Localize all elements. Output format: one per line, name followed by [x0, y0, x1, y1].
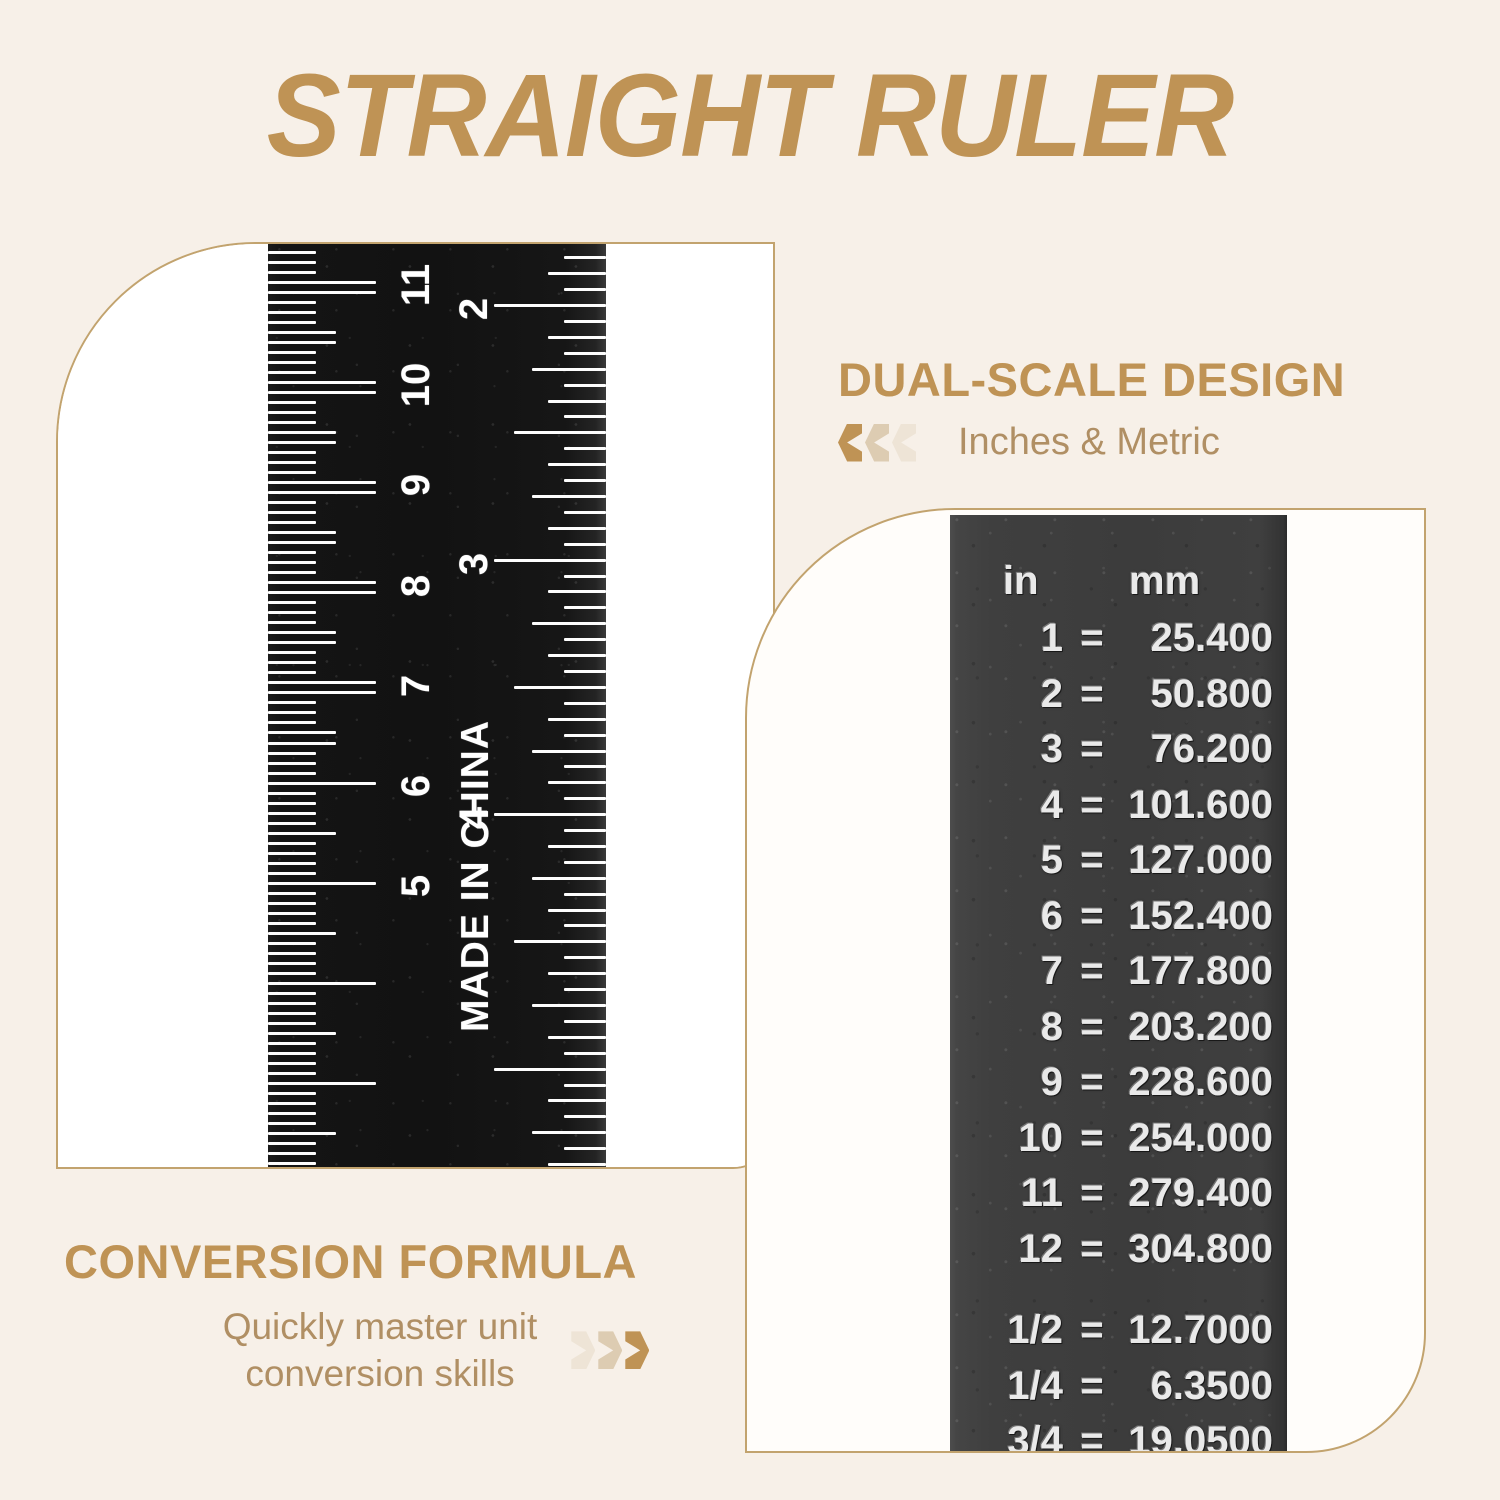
table-row: 10=254.000 — [950, 1116, 1287, 1172]
table-row: 1/4=6.3500 — [950, 1364, 1287, 1420]
metric-tick — [268, 691, 376, 694]
imperial-scale-number: 2 — [454, 279, 494, 339]
metric-scale-number: 11 — [396, 255, 436, 315]
metric-tick — [268, 752, 316, 755]
imperial-tick — [564, 447, 606, 450]
made-in-china-label: MADE IN CHINA — [454, 720, 498, 1032]
cell-inches: 9 — [950, 1060, 1063, 1105]
imperial-tick — [548, 845, 606, 848]
metric-tick — [268, 1152, 316, 1155]
equals-sign: = — [1063, 1227, 1121, 1272]
equals-sign: = — [1063, 838, 1121, 883]
imperial-tick — [564, 479, 606, 482]
table-row: 1=25.400 — [950, 616, 1287, 672]
table-section-divider — [950, 1282, 1287, 1308]
metric-tick — [268, 611, 316, 614]
imperial-tick — [564, 1084, 606, 1087]
imperial-tick — [564, 988, 606, 991]
metric-tick — [268, 962, 316, 965]
metric-tick — [268, 321, 316, 324]
cell-millimeters: 228.600 — [1121, 1060, 1281, 1105]
metric-tick — [268, 882, 376, 885]
metric-tick — [268, 361, 316, 364]
metric-tick — [268, 1082, 376, 1085]
table-row: 1/2=12.7000 — [950, 1308, 1287, 1364]
imperial-tick — [564, 1052, 606, 1055]
metric-tick — [268, 1032, 336, 1035]
metric-tick — [268, 822, 316, 825]
metric-tick — [268, 1042, 316, 1045]
equals-sign: = — [1063, 1364, 1121, 1409]
metric-tick — [268, 421, 316, 424]
metric-tick — [268, 992, 316, 995]
metric-tick — [268, 471, 316, 474]
cell-millimeters: 203.200 — [1121, 1005, 1281, 1050]
cell-millimeters: 6.3500 — [1121, 1364, 1281, 1409]
imperial-tick — [564, 575, 606, 578]
imperial-tick — [564, 352, 606, 355]
metric-tick — [268, 742, 336, 745]
metric-tick — [268, 351, 316, 354]
imperial-tick — [532, 622, 606, 625]
table-row: 3=76.200 — [950, 727, 1287, 783]
imperial-tick — [548, 272, 606, 275]
metric-tick — [268, 802, 316, 805]
cell-inches: 4 — [950, 783, 1063, 828]
metric-tick — [268, 271, 316, 274]
cell-inches: 8 — [950, 1005, 1063, 1050]
cell-millimeters: 25.400 — [1121, 616, 1281, 661]
metric-tick — [268, 591, 376, 594]
metric-tick — [268, 581, 376, 584]
imperial-tick — [548, 909, 606, 912]
metric-tick — [268, 401, 316, 404]
metric-tick — [268, 491, 376, 494]
cell-millimeters: 279.400 — [1121, 1171, 1281, 1216]
metric-tick — [268, 862, 316, 865]
table-row: 5=127.000 — [950, 838, 1287, 894]
imperial-tick — [532, 242, 606, 244]
metric-tick — [268, 922, 316, 925]
metric-tick — [268, 1012, 316, 1015]
cell-inches: 3/4 — [950, 1419, 1063, 1453]
imperial-tick — [514, 686, 606, 689]
cell-millimeters: 127.000 — [1121, 838, 1281, 883]
imperial-tick — [564, 288, 606, 291]
conversion-subtitle-line-2: conversion skills — [223, 1350, 538, 1397]
metric-tick — [268, 681, 376, 684]
imperial-tick — [494, 559, 606, 562]
imperial-tick — [564, 256, 606, 259]
table-row: 2=50.800 — [950, 672, 1287, 728]
imperial-tick — [494, 304, 606, 307]
imperial-tick — [564, 606, 606, 609]
imperial-tick — [564, 924, 606, 927]
cell-millimeters: 304.800 — [1121, 1227, 1281, 1272]
metric-tick — [268, 511, 316, 514]
table-row: 12=304.800 — [950, 1227, 1287, 1283]
metric-tick — [268, 341, 336, 344]
chevron-left-icon — [892, 424, 916, 462]
metric-scale-number: 10 — [396, 355, 436, 415]
conversion-subtitle-line-1: Quickly master unit — [223, 1303, 538, 1350]
metric-tick — [268, 561, 316, 564]
imperial-tick — [564, 829, 606, 832]
imperial-tick — [532, 1131, 606, 1134]
metric-tick — [268, 1022, 316, 1025]
metric-tick — [268, 772, 316, 775]
whole-inch-rows: 1=25.4002=50.8003=76.2004=101.6005=127.0… — [950, 616, 1287, 1282]
cell-millimeters: 177.800 — [1121, 949, 1281, 994]
metric-tick — [268, 942, 316, 945]
equals-sign: = — [1063, 783, 1121, 828]
table-header-row: in mm — [950, 559, 1287, 616]
equals-sign: = — [1063, 1005, 1121, 1050]
metric-tick — [268, 481, 376, 484]
metric-tick — [268, 892, 316, 895]
table-row: 9=228.600 — [950, 1060, 1287, 1116]
metric-tick — [268, 411, 316, 414]
equals-sign: = — [1063, 616, 1121, 661]
imperial-tick — [532, 1004, 606, 1007]
metric-tick — [268, 782, 376, 785]
imperial-tick — [564, 734, 606, 737]
metric-tick — [268, 1072, 316, 1075]
metric-tick — [268, 671, 316, 674]
metric-tick — [268, 902, 316, 905]
conversion-text-block: CONVERSION FORMULA Quickly master unit c… — [56, 1234, 756, 1398]
metric-scale-number: 9 — [396, 455, 436, 515]
metric-tick — [268, 331, 336, 334]
imperial-tick — [548, 654, 606, 657]
metric-tick — [268, 952, 316, 955]
cell-inches: 1 — [950, 616, 1063, 661]
imperial-tick — [548, 972, 606, 975]
metric-tick — [268, 1052, 316, 1055]
imperial-tick — [564, 638, 606, 641]
imperial-tick — [494, 813, 606, 816]
metric-tick — [268, 832, 336, 835]
imperial-tick — [564, 384, 606, 387]
inch-to-mm-conversion-plate: in mm 1=25.4002=50.8003=76.2004=101.6005… — [950, 515, 1287, 1453]
equals-sign: = — [1063, 949, 1121, 994]
metric-tick — [268, 912, 316, 915]
imperial-tick — [514, 940, 606, 943]
chevron-right-icon — [571, 1331, 595, 1369]
imperial-tick — [548, 336, 606, 339]
metric-tick — [268, 621, 316, 624]
metric-tick — [268, 551, 316, 554]
table-row: 8=203.200 — [950, 1005, 1287, 1061]
metric-tick — [268, 571, 316, 574]
chevron-right-icon-group — [571, 1331, 649, 1369]
dual-scale-text-block: DUAL-SCALE DESIGN Inches & Metric — [838, 352, 1438, 464]
imperial-tick — [564, 1020, 606, 1023]
imperial-tick — [494, 1068, 606, 1071]
imperial-tick — [548, 590, 606, 593]
imperial-tick — [564, 956, 606, 959]
cell-inches: 5 — [950, 838, 1063, 883]
metric-tick — [268, 1062, 316, 1065]
table-row: 7=177.800 — [950, 949, 1287, 1005]
imperial-tick — [548, 1036, 606, 1039]
metric-tick — [268, 391, 376, 394]
metric-tick — [268, 661, 316, 664]
imperial-tick — [548, 781, 606, 784]
equals-sign: = — [1063, 1116, 1121, 1161]
metric-tick — [268, 842, 316, 845]
metric-tick — [268, 1112, 316, 1115]
header-millimeters: mm — [1121, 559, 1281, 604]
metric-tick — [268, 311, 316, 314]
cell-millimeters: 152.400 — [1121, 894, 1281, 939]
cell-millimeters: 254.000 — [1121, 1116, 1281, 1161]
cell-inches: 11 — [950, 1171, 1063, 1216]
cell-inches: 1/4 — [950, 1364, 1063, 1409]
imperial-tick — [548, 527, 606, 530]
cell-inches: 1/2 — [950, 1308, 1063, 1353]
metric-tick — [268, 301, 316, 304]
cell-millimeters: 12.7000 — [1121, 1308, 1281, 1353]
imperial-tick — [548, 718, 606, 721]
metric-tick — [268, 812, 316, 815]
table-row: 3/4=19.0500 — [950, 1419, 1287, 1453]
table-row: 6=152.400 — [950, 894, 1287, 950]
cell-millimeters: 101.600 — [1121, 783, 1281, 828]
ruler-photo-background: MADE IN CHINA MQ-1015B 111098765234 — [58, 244, 773, 1167]
imperial-tick — [548, 1163, 606, 1166]
imperial-tick — [548, 1099, 606, 1102]
equals-sign: = — [1063, 1419, 1121, 1453]
cell-inches: 2 — [950, 672, 1063, 717]
metric-tick — [268, 711, 316, 714]
conversion-heading: CONVERSION FORMULA — [56, 1234, 756, 1289]
metric-scale-number: 5 — [396, 856, 436, 916]
table-row: 4=101.600 — [950, 783, 1287, 839]
metric-tick — [268, 281, 376, 284]
metric-tick — [268, 242, 336, 244]
imperial-tick — [532, 877, 606, 880]
metric-tick — [268, 872, 316, 875]
imperial-tick-scale — [486, 242, 606, 1169]
imperial-scale-number: 4 — [454, 788, 494, 848]
equals-sign: = — [1063, 1171, 1121, 1216]
cell-millimeters: 19.0500 — [1121, 1419, 1281, 1453]
metric-tick — [268, 701, 316, 704]
metric-tick — [268, 972, 316, 975]
metric-tick — [268, 932, 336, 935]
metric-tick — [268, 541, 336, 544]
metric-tick — [268, 501, 316, 504]
dual-scale-subtitle-row: Inches & Metric — [838, 421, 1438, 464]
metric-tick — [268, 381, 376, 384]
imperial-tick — [564, 797, 606, 800]
chevron-left-icon — [838, 424, 862, 462]
metric-tick — [268, 1142, 316, 1145]
chevron-right-icon — [598, 1331, 622, 1369]
metric-tick — [268, 631, 336, 634]
imperial-tick — [548, 400, 606, 403]
metric-tick — [268, 1092, 316, 1095]
imperial-tick — [564, 765, 606, 768]
metric-tick — [268, 762, 316, 765]
metric-tick — [268, 371, 316, 374]
metric-tick — [268, 521, 316, 524]
metric-tick — [268, 601, 316, 604]
cell-inches: 12 — [950, 1227, 1063, 1272]
imperial-tick — [564, 1147, 606, 1150]
metric-tick — [268, 431, 336, 434]
metric-scale-number: 7 — [396, 656, 436, 716]
imperial-tick — [564, 861, 606, 864]
cell-inches: 7 — [950, 949, 1063, 994]
cell-inches: 3 — [950, 727, 1063, 772]
equals-sign: = — [1063, 1308, 1121, 1353]
metric-tick — [268, 451, 316, 454]
metric-tick — [268, 441, 336, 444]
ruler-photo-panel: MADE IN CHINA MQ-1015B 111098765234 — [56, 242, 775, 1169]
dual-scale-subtitle: Inches & Metric — [958, 421, 1220, 464]
fractional-inch-rows: 1/2=12.70001/4=6.35003/4=19.05001/8=3.17… — [950, 1308, 1287, 1453]
metric-tick — [268, 1132, 336, 1135]
equals-sign: = — [1063, 727, 1121, 772]
equals-sign: = — [1063, 1060, 1121, 1105]
chevron-left-icon-group — [838, 424, 916, 462]
imperial-tick — [532, 750, 606, 753]
metric-tick — [268, 251, 316, 254]
header-inches: in — [950, 559, 1063, 604]
metric-tick-scale — [268, 242, 388, 1169]
conversion-subtitle-row: Quickly master unit conversion skills — [56, 1303, 756, 1398]
page-title: STRAIGHT RULER — [45, 55, 1455, 179]
equals-sign: = — [1063, 672, 1121, 717]
metric-tick — [268, 641, 336, 644]
imperial-scale-number: 3 — [454, 534, 494, 594]
table-row: 11=279.400 — [950, 1171, 1287, 1227]
metric-tick — [268, 792, 316, 795]
metric-tick — [268, 731, 336, 734]
equals-sign: = — [1063, 894, 1121, 939]
metric-tick — [268, 461, 316, 464]
imperial-tick — [564, 670, 606, 673]
metric-tick — [268, 531, 336, 534]
conversion-table-panel: in mm 1=25.4002=50.8003=76.2004=101.6005… — [745, 508, 1426, 1453]
metric-tick — [268, 1122, 316, 1125]
imperial-tick — [514, 431, 606, 434]
metric-tick — [268, 291, 376, 294]
imperial-tick — [564, 543, 606, 546]
imperial-tick — [564, 702, 606, 705]
metric-tick — [268, 651, 316, 654]
imperial-tick — [564, 320, 606, 323]
imperial-tick — [564, 1115, 606, 1118]
metric-scale-number: 6 — [396, 756, 436, 816]
metric-tick — [268, 1102, 316, 1105]
imperial-tick — [548, 463, 606, 466]
metric-tick — [268, 982, 376, 985]
chevron-left-icon — [865, 424, 889, 462]
conversion-subtitle: Quickly master unit conversion skills — [223, 1303, 538, 1398]
cell-inches: 6 — [950, 894, 1063, 939]
cell-inches: 10 — [950, 1116, 1063, 1161]
imperial-tick — [564, 893, 606, 896]
dual-scale-heading: DUAL-SCALE DESIGN — [838, 352, 1438, 407]
imperial-tick — [532, 368, 606, 371]
metric-tick — [268, 1162, 316, 1165]
imperial-tick — [564, 415, 606, 418]
imperial-tick — [564, 511, 606, 514]
imperial-tick — [532, 495, 606, 498]
cell-millimeters: 76.200 — [1121, 727, 1281, 772]
metric-tick — [268, 261, 316, 264]
metric-tick — [268, 1002, 316, 1005]
metric-tick — [268, 721, 316, 724]
metric-scale-number: 8 — [396, 556, 436, 616]
metric-tick — [268, 852, 316, 855]
chevron-right-icon — [625, 1331, 649, 1369]
ruler-body: MADE IN CHINA MQ-1015B 111098765234 — [268, 242, 606, 1169]
cell-millimeters: 50.800 — [1121, 672, 1281, 717]
